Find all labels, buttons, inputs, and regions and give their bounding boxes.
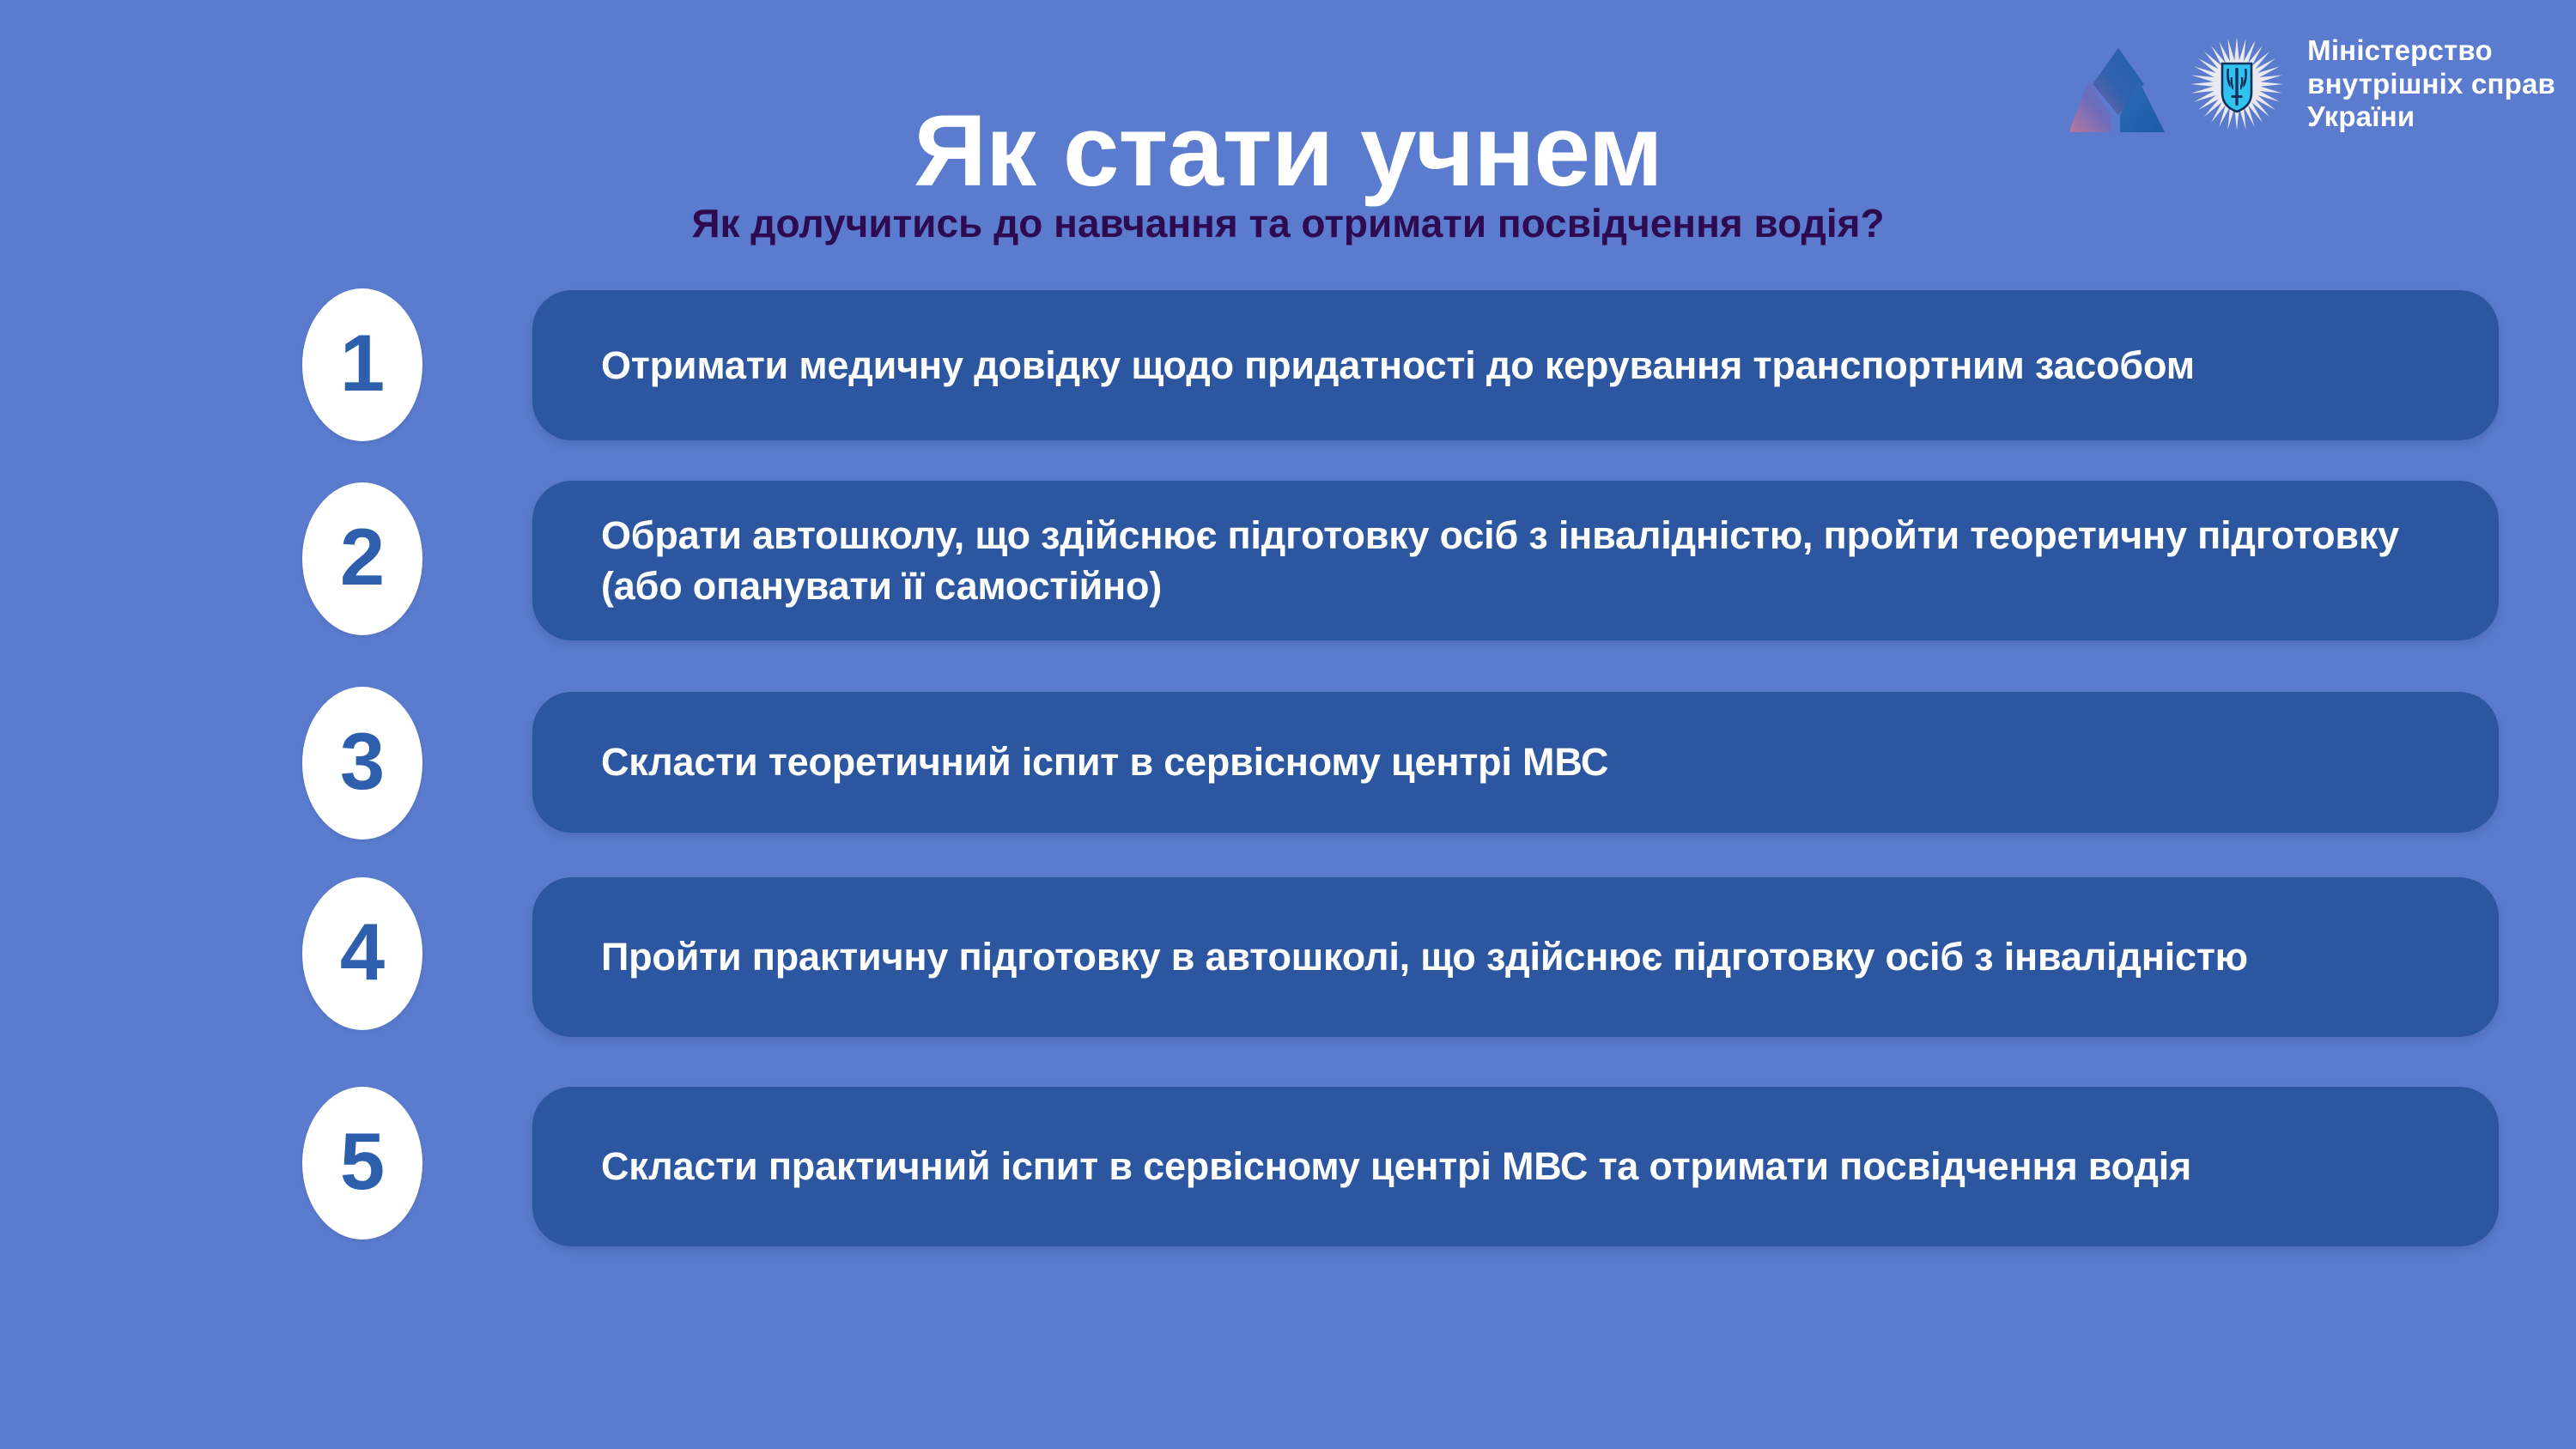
step-text-4: Пройти практичну підготовку в автошколі,… (532, 931, 2296, 982)
list-item: 3 Скласти теоретичний іспит в сервісному… (0, 692, 2576, 877)
infographic-slide: Як стати учнем Як долучитись до навчання… (0, 0, 2576, 1449)
list-item: 2 Обрати автошколу, що здійснює підготов… (0, 481, 2576, 692)
steps-list: 1 Отримати медичну довідку щодо придатно… (0, 283, 2576, 1301)
step-number-4: 4 (340, 912, 385, 992)
step-badge-2: 2 (302, 482, 422, 635)
triangles-logo-icon (2070, 36, 2166, 132)
step-card-5[interactable]: Скласти практичний іспит в сервісному це… (532, 1087, 2499, 1246)
list-item: 4 Пройти практичну підготовку в автошкол… (0, 877, 2576, 1087)
branding-block: Міністерство внутрішніх справ України (2070, 33, 2555, 136)
step-number-3: 3 (340, 721, 385, 802)
step-badge-5: 5 (302, 1087, 422, 1240)
mvs-emblem-icon (2189, 36, 2285, 132)
step-number-2: 2 (340, 517, 385, 597)
ministry-name: Міністерство внутрішніх справ України (2307, 34, 2555, 134)
step-badge-3: 3 (302, 687, 422, 840)
step-number-5: 5 (340, 1121, 385, 1202)
step-text-5: Скласти практичний іспит в сервісному це… (532, 1141, 2239, 1191)
step-badge-4: 4 (302, 877, 422, 1030)
step-card-3[interactable]: Скласти теоретичний іспит в сервісному ц… (532, 692, 2499, 833)
step-card-1[interactable]: Отримати медичну довідку щодо придатност… (532, 290, 2499, 440)
list-item: 1 Отримати медичну довідку щодо придатно… (0, 283, 2576, 481)
step-card-2[interactable]: Обрати автошколу, що здійснює підготовку… (532, 481, 2499, 640)
step-text-1: Отримати медичну довідку щодо придатност… (532, 340, 2243, 391)
step-card-4[interactable]: Пройти практичну підготовку в автошколі,… (532, 877, 2499, 1037)
step-text-3: Скласти теоретичний іспит в сервісному ц… (532, 737, 1656, 787)
page-subtitle: Як долучитись до навчання та отримати по… (0, 200, 2576, 246)
list-item: 5 Скласти практичний іспит в сервісному … (0, 1087, 2576, 1301)
step-badge-1: 1 (302, 288, 422, 441)
step-number-1: 1 (340, 323, 385, 403)
step-text-2: Обрати автошколу, що здійснює підготовку… (532, 510, 2499, 612)
